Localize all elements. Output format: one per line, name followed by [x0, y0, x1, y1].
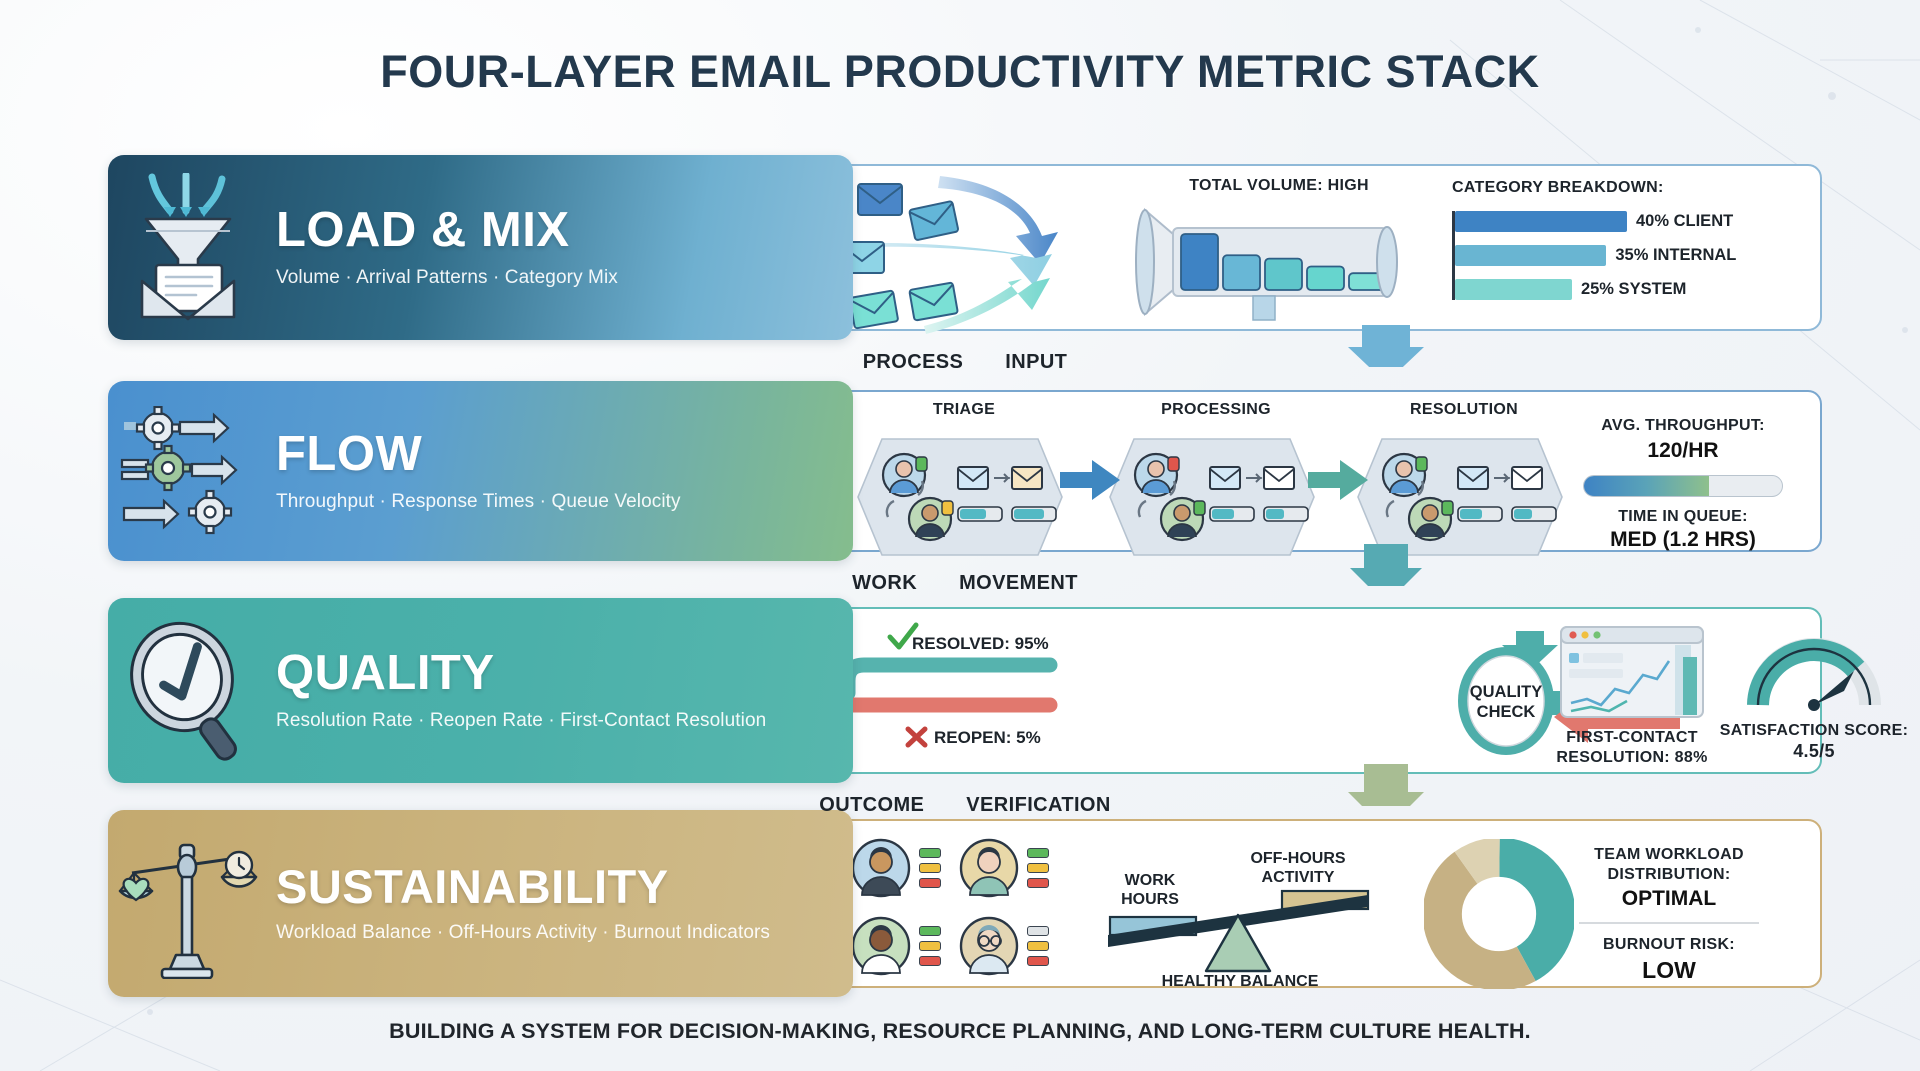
volume-block [1223, 255, 1260, 290]
status-chip [919, 926, 941, 936]
incoming-mail-illustration [830, 170, 1160, 340]
status-chip [919, 956, 941, 966]
category-breakdown-group: CATEGORY BREAKDOWN: 40% CLIENT35% INTERN… [1452, 178, 1802, 313]
layer-row-load-mix: TOTAL VOLUME: HIGH CATEGORY BREAKDOWN: 4… [108, 155, 1822, 340]
queue-label: TIME IN QUEUE: [1568, 507, 1798, 527]
status-chip [1027, 848, 1049, 858]
category-bar-row: 35% INTERNAL [1455, 245, 1802, 266]
balance-scale-icon [108, 829, 268, 979]
layer-row-quality: RESOLVED: 95% REOPEN: 5% QUALITY CHEC [108, 598, 1822, 783]
total-volume-label: TOTAL VOLUME: HIGH [1129, 176, 1429, 196]
page-title: FOUR-LAYER EMAIL PRODUCTIVITY METRIC STA… [0, 46, 1920, 98]
panel-sustainability: WORK HOURS OFF-HOURS ACTIVITY HEALTHY BA… [822, 819, 1822, 988]
category-bar [1455, 279, 1572, 300]
flow-stage-label: PROCESSING [1104, 400, 1328, 420]
panel-quality: RESOLVED: 95% REOPEN: 5% QUALITY CHEC [822, 607, 1822, 774]
layer-title-flow: FLOW [276, 430, 681, 479]
avatar [958, 915, 1020, 977]
flow-stage-resolution: RESOLUTION [1352, 400, 1576, 562]
status-chips [919, 848, 941, 888]
band-text-quality: QUALITY Resolution Rate · Reopen Rate · … [268, 649, 766, 732]
flow-stage-graphic [1104, 425, 1328, 557]
resolved-text: RESOLVED: 95% [912, 634, 1049, 653]
flow-metrics: AVG. THROUGHPUT: 120/HR TIME IN QUEUE: M… [1568, 416, 1798, 552]
connector-arrow-1 [108, 325, 1822, 367]
band-text-sustainability: SUSTAINABILITY Workload Balance · Off-Ho… [268, 863, 770, 944]
sustainability-metrics: TEAM WORKLOAD DISTRIBUTION: OPTIMAL BURN… [1544, 845, 1794, 984]
connector-process-input: PROCESS INPUT [108, 341, 1822, 383]
funnel-envelope-icon [108, 173, 268, 323]
status-chip [1027, 956, 1049, 966]
volume-block [1265, 258, 1302, 289]
layer-subtitle-sustainability: Workload Balance · Off-Hours Activity · … [276, 922, 770, 944]
burnout-value: LOW [1544, 957, 1794, 984]
team-member [958, 837, 1049, 899]
panel-flow: TRIAGEPROCESSINGRESOLUTION AVG. THROUGHP… [822, 390, 1822, 552]
throughput-value: 120/HR [1568, 439, 1798, 463]
category-bar-row: 40% CLIENT [1455, 211, 1802, 232]
burnout-label: BURNOUT RISK: [1544, 935, 1794, 955]
page-footer: BUILDING A SYSTEM FOR DECISION-MAKING, R… [0, 1019, 1920, 1044]
status-chips [1027, 926, 1049, 966]
metrics-divider [1579, 922, 1759, 924]
reopen-text: REOPEN: 5% [934, 728, 1041, 747]
flow-progress-bar [1583, 475, 1783, 497]
satisfaction-value: 4.5/5 [1714, 741, 1914, 763]
band-text-load-mix: LOAD & MIX Volume · Arrival Patterns · C… [268, 206, 618, 289]
healthy-balance-label: HEALTHY BALANCE [1162, 973, 1319, 986]
status-chip [919, 863, 941, 873]
band-flow: FLOW Throughput · Response Times · Queue… [108, 381, 853, 561]
volume-cylinder-chart [1129, 202, 1429, 322]
team-member [850, 837, 941, 899]
total-volume-group: TOTAL VOLUME: HIGH [1129, 176, 1429, 327]
connector-work-movement: WORK MOVEMENT [108, 562, 1822, 604]
team-member [850, 915, 941, 977]
fcr-label: FIRST-CONTACT [1542, 728, 1722, 748]
status-chips [1027, 848, 1049, 888]
layer-subtitle-quality: Resolution Rate · Reopen Rate · First-Co… [276, 710, 766, 732]
status-chip [1027, 878, 1049, 888]
layer-title-sustainability: SUSTAINABILITY [276, 863, 770, 910]
layer-row-flow: TRIAGEPROCESSINGRESOLUTION AVG. THROUGHP… [108, 381, 1822, 561]
category-bar [1455, 245, 1606, 266]
satisfaction-group: SATISFACTION SCORE: 4.5/5 [1714, 623, 1914, 762]
category-bar-label: 25% SYSTEM [1581, 280, 1686, 299]
avatar [850, 837, 912, 899]
layer-subtitle-flow: Throughput · Response Times · Queue Velo… [276, 491, 681, 513]
flow-stage-label: RESOLUTION [1352, 400, 1576, 420]
work-balance-seesaw: WORK HOURS OFF-HOURS ACTIVITY HEALTHY BA… [1094, 831, 1384, 991]
distribution-value: OPTIMAL [1544, 887, 1794, 911]
status-chip [919, 848, 941, 858]
status-chips [919, 926, 941, 966]
donut-slice-light [1442, 857, 1556, 971]
offhours-line-2: ACTIVITY [1262, 869, 1335, 886]
flow-stage-graphic [1352, 425, 1576, 557]
panel-load-mix: TOTAL VOLUME: HIGH CATEGORY BREAKDOWN: 4… [822, 164, 1822, 331]
band-text-flow: FLOW Throughput · Response Times · Queue… [268, 430, 681, 513]
hub-line-1: QUALITY [1470, 683, 1542, 701]
team-member [958, 915, 1049, 977]
dashboard-icon [1557, 623, 1707, 721]
hub-line-2: CHECK [1477, 703, 1536, 721]
category-bar-label: 40% CLIENT [1636, 212, 1733, 231]
flow-stage-processing: PROCESSING [1104, 400, 1328, 562]
work-hours-line-1: WORK [1125, 872, 1176, 889]
avatar [958, 837, 1020, 899]
band-quality: QUALITY Resolution Rate · Reopen Rate · … [108, 598, 853, 783]
avatar [850, 915, 912, 977]
connector-outcome-verification: OUTCOME VERIFICATION [108, 784, 1822, 826]
status-chip [919, 878, 941, 888]
status-chip [1027, 863, 1049, 873]
category-bar-label: 35% INTERNAL [1615, 246, 1736, 265]
work-hours-line-2: HOURS [1121, 891, 1179, 908]
volume-block [1307, 266, 1344, 290]
infographic-canvas: FOUR-LAYER EMAIL PRODUCTIVITY METRIC STA… [0, 0, 1920, 1071]
distribution-line-2: DISTRIBUTION: [1544, 865, 1794, 885]
gauge-icon [1744, 623, 1884, 715]
connector-arrow-2 [108, 544, 1822, 586]
distribution-line-1: TEAM WORKLOAD [1544, 845, 1794, 865]
flow-stage-label: TRIAGE [852, 400, 1076, 420]
flow-stage-triage: TRIAGE [852, 400, 1076, 562]
gears-arrows-icon [108, 406, 268, 536]
offhours-line-1: OFF-HOURS [1250, 850, 1345, 867]
flow-stage-graphic [852, 425, 1076, 557]
band-load-mix: LOAD & MIX Volume · Arrival Patterns · C… [108, 155, 853, 340]
band-sustainability: SUSTAINABILITY Workload Balance · Off-Ho… [108, 810, 853, 997]
volume-block [1181, 234, 1218, 290]
category-breakdown-label: CATEGORY BREAKDOWN: [1452, 178, 1802, 198]
quality-flow-arrows: RESOLVED: 95% REOPEN: 5% [804, 609, 1274, 777]
satisfaction-label: SATISFACTION SCORE: [1714, 721, 1914, 741]
connector-arrow-3 [108, 764, 1822, 806]
category-bar [1455, 211, 1627, 232]
throughput-label: AVG. THROUGHPUT: [1568, 416, 1798, 436]
layer-title-load-mix: LOAD & MIX [276, 206, 618, 255]
layer-subtitle-load-mix: Volume · Arrival Patterns · Category Mix [276, 267, 618, 289]
layer-title-quality: QUALITY [276, 649, 766, 698]
category-bar-row: 25% SYSTEM [1455, 279, 1802, 300]
status-chip [919, 941, 941, 951]
first-contact-resolution-group: FIRST-CONTACT RESOLUTION: 88% [1542, 623, 1722, 767]
status-chip [1027, 926, 1049, 936]
magnifier-check-icon [108, 621, 268, 761]
layer-row-sustainability: WORK HOURS OFF-HOURS ACTIVITY HEALTHY BA… [108, 810, 1822, 997]
status-chip [1027, 941, 1049, 951]
